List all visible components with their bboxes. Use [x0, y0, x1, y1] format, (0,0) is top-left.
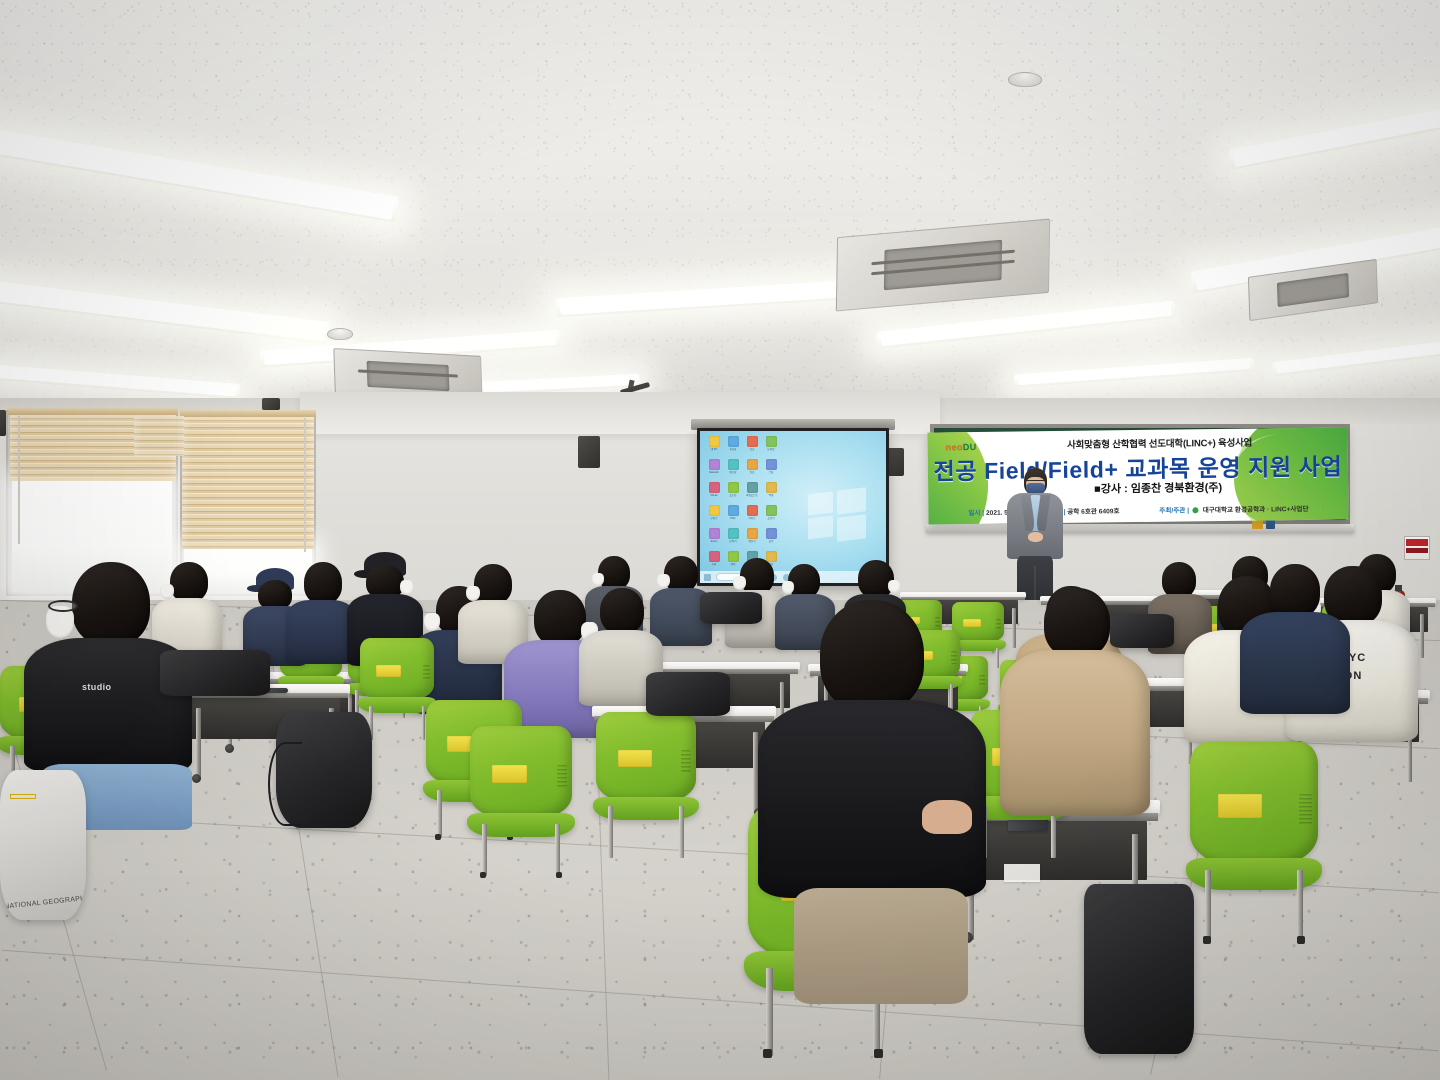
desktop-icon[interactable]: 프린터	[762, 505, 780, 526]
ceiling	[0, 0, 1440, 430]
desktop-icon-label: 알집	[743, 471, 761, 478]
logo-du-text: DU	[963, 442, 977, 452]
desktop-icon-glyph	[709, 505, 720, 516]
attendee-trousers	[794, 888, 968, 1004]
desktop-icon[interactable]: 알집	[743, 459, 761, 480]
banner-host: 주최/주관 | 대구대학교 환경공학과 · LINC+사업단	[1159, 503, 1308, 515]
backpack-black	[646, 672, 730, 716]
smoke-detector-icon	[327, 328, 353, 340]
desktop-icon[interactable]: 메모장	[724, 459, 742, 480]
desktop-icon-glyph	[709, 551, 720, 562]
desktop-icon-label: 프린터	[762, 517, 780, 524]
university-emblem-icon	[1193, 507, 1199, 513]
desktop-icon[interactable]: 계산기	[743, 528, 761, 549]
blind-control-rod	[304, 418, 306, 552]
desktop-icon[interactable]: Zoom	[705, 528, 723, 549]
blind-control-rod	[18, 416, 20, 544]
presenter-hands	[1028, 532, 1043, 542]
desktop-icon-label: 메모장	[724, 471, 742, 478]
desktop-icon[interactable]: 휴지통	[724, 436, 742, 457]
wall-speaker	[578, 436, 600, 468]
desktop-icon[interactable]: 음악	[762, 528, 780, 549]
desktop-icon-label: 음악	[762, 540, 780, 547]
natgeo-text: NATIONAL GEOGRAPHIC	[4, 894, 86, 910]
desktop-icon-label: 파워포인트	[743, 494, 761, 501]
desktop-icon[interactable]: 엑셀	[762, 482, 780, 503]
desktop-icon-glyph	[766, 505, 777, 516]
desktop-icon-label: PDF	[724, 517, 742, 524]
classroom-chair	[470, 726, 572, 876]
desktop-icon[interactable]: 파워포인트	[743, 482, 761, 503]
chalk-tray	[926, 524, 1354, 533]
desktop-icon-glyph	[747, 459, 758, 470]
attendee-arm	[922, 800, 972, 834]
smoke-detector-icon	[1008, 72, 1042, 87]
desktop-icon-label: 휴지통	[724, 448, 742, 455]
logo-neo-text: neo	[946, 442, 963, 452]
neodu-logo: neoDU	[946, 442, 977, 452]
desktop-icon[interactable]: 오피스	[705, 505, 723, 526]
desktop-icon-label: 한글	[743, 448, 761, 455]
desktop-icon-glyph	[747, 505, 758, 516]
backpack-black	[700, 592, 762, 624]
desktop-icon[interactable]: 크롬	[762, 459, 780, 480]
desktop-icon-glyph	[709, 459, 720, 470]
glasses-icon	[48, 600, 78, 612]
desktop-icon-glyph	[709, 436, 720, 447]
natgeo-logo-icon	[10, 794, 36, 799]
venetian-blind-right	[182, 417, 314, 549]
classroom-photo: 내 PC휴지통한글문서함Network메모장알집크롬V3Lite포토샵파워포인트…	[0, 0, 1440, 1080]
desktop-icon-glyph	[747, 482, 758, 493]
desktop-icon-glyph	[766, 482, 777, 493]
windows-logo-icon	[808, 489, 866, 541]
desktop-icon-glyph	[766, 436, 777, 447]
desktop-icon[interactable]: 카카오	[743, 505, 761, 526]
desk-label	[1004, 864, 1040, 882]
desktop-icon[interactable]: 포토샵	[724, 482, 742, 503]
apparel-text-studio: studio	[82, 682, 111, 692]
desktop-icon-grid[interactable]: 내 PC휴지통한글문서함Network메모장알집크롬V3Lite포토샵파워포인트…	[705, 436, 779, 572]
desktop-icon-glyph	[766, 528, 777, 539]
desktop-icon-label: Network	[705, 471, 723, 478]
attendee	[1248, 564, 1340, 714]
desktop-icon-label: 포토샵	[724, 494, 742, 501]
backpack-black	[276, 712, 372, 828]
desktop-icon-label: 문서함	[762, 448, 780, 455]
desktop-icon-glyph	[728, 505, 739, 516]
desktop-icon-label: 오피스	[705, 517, 723, 524]
desktop-icon[interactable]: PDF	[724, 505, 742, 526]
tote-bag-black	[1084, 884, 1194, 1054]
banner-date: 일시 | 2021. 5.	[968, 507, 1010, 518]
attendee	[290, 562, 352, 664]
desktop-icon-label: V3Lite	[705, 494, 723, 501]
desktop-icon-glyph	[709, 482, 720, 493]
desktop-icon-label: 계산기	[743, 540, 761, 547]
classroom-chair	[360, 638, 434, 740]
desktop-icon[interactable]: 한글	[743, 436, 761, 457]
venetian-blind-mid	[134, 416, 184, 456]
duffel-bag-black	[160, 650, 270, 696]
desktop-icon-glyph	[766, 459, 777, 470]
desktop-icon[interactable]: 문서함	[762, 436, 780, 457]
desktop-icon-glyph	[709, 528, 720, 539]
wall-speaker	[0, 410, 6, 436]
desktop-icon-glyph	[728, 528, 739, 539]
fire-safety-sign	[1404, 536, 1430, 560]
backpack-white: NATIONAL GEOGRAPHIC	[0, 770, 86, 920]
wall-speaker	[262, 398, 280, 410]
blind-headrail	[8, 408, 178, 415]
desktop-icon-glyph	[728, 482, 739, 493]
desktop-icon-label: 탐색기	[724, 540, 742, 547]
desktop-icon-label: 크롬	[762, 471, 780, 478]
classroom-chair	[1190, 742, 1318, 942]
desktop-icon[interactable]: Network	[705, 459, 723, 480]
desktop-icon-label: 내 PC	[705, 448, 723, 455]
desktop-icon-glyph	[747, 436, 758, 447]
desktop-icon[interactable]: V3Lite	[705, 482, 723, 503]
desktop-icon[interactable]: 탐색기	[724, 528, 742, 549]
desktop-icon-label: Zoom	[705, 540, 723, 547]
blind-headrail	[180, 410, 316, 417]
attendee-foreground	[772, 600, 972, 1000]
desktop-icon-glyph	[747, 528, 758, 539]
desktop-icon[interactable]: 내 PC	[705, 436, 723, 457]
event-banner: neoDU 사회맞춤형 산학협력 선도대학(LINC+) 육성사업 전공 Fie…	[927, 427, 1348, 524]
backpack-black	[1110, 614, 1174, 648]
desktop-icon-label: 카카오	[743, 517, 761, 524]
desktop-icon-glyph	[728, 436, 739, 447]
classroom-chair	[596, 712, 696, 858]
desktop-icon-glyph	[728, 459, 739, 470]
desktop-icon-label: 엑셀	[762, 494, 780, 501]
